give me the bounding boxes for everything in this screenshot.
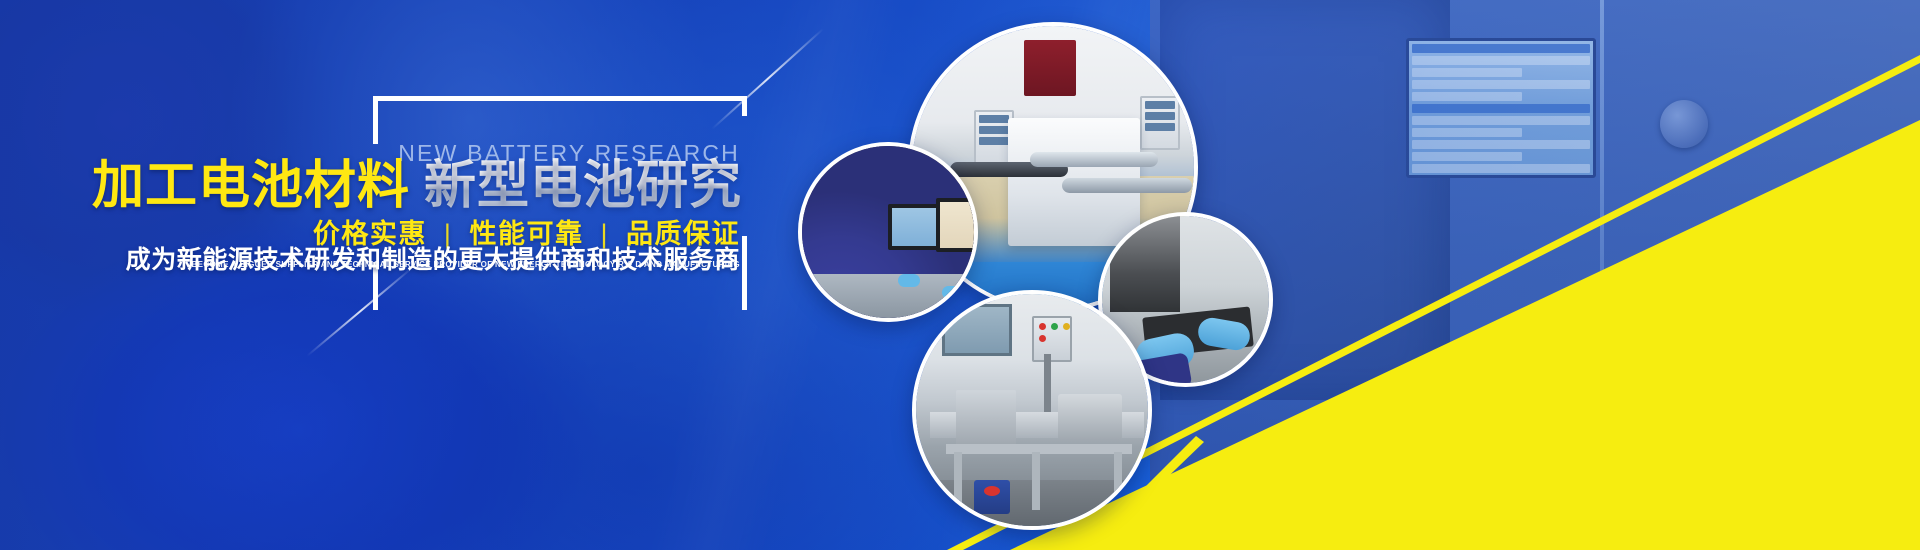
tagline-chinese: 成为新能源技术研发和制造的更大提供商和技术服务商	[126, 240, 740, 276]
headline: 加工电池材料新型电池研究	[92, 158, 742, 214]
headline-primary: 加工电池材料	[92, 157, 410, 215]
hero-banner: NEW BATTERY RESEARCH 加工电池材料新型电池研究 价格实惠 |…	[0, 0, 1920, 550]
copy-block: NEW BATTERY RESEARCH 加工电池材料新型电池研究 价格实惠 |…	[0, 0, 760, 550]
photo-circle-roll-press-line	[912, 290, 1152, 530]
tagline-english: BECOME A BIGGER SUPPLIER AND TECHNICAL S…	[192, 260, 740, 269]
headline-secondary: 新型电池研究	[424, 157, 742, 215]
